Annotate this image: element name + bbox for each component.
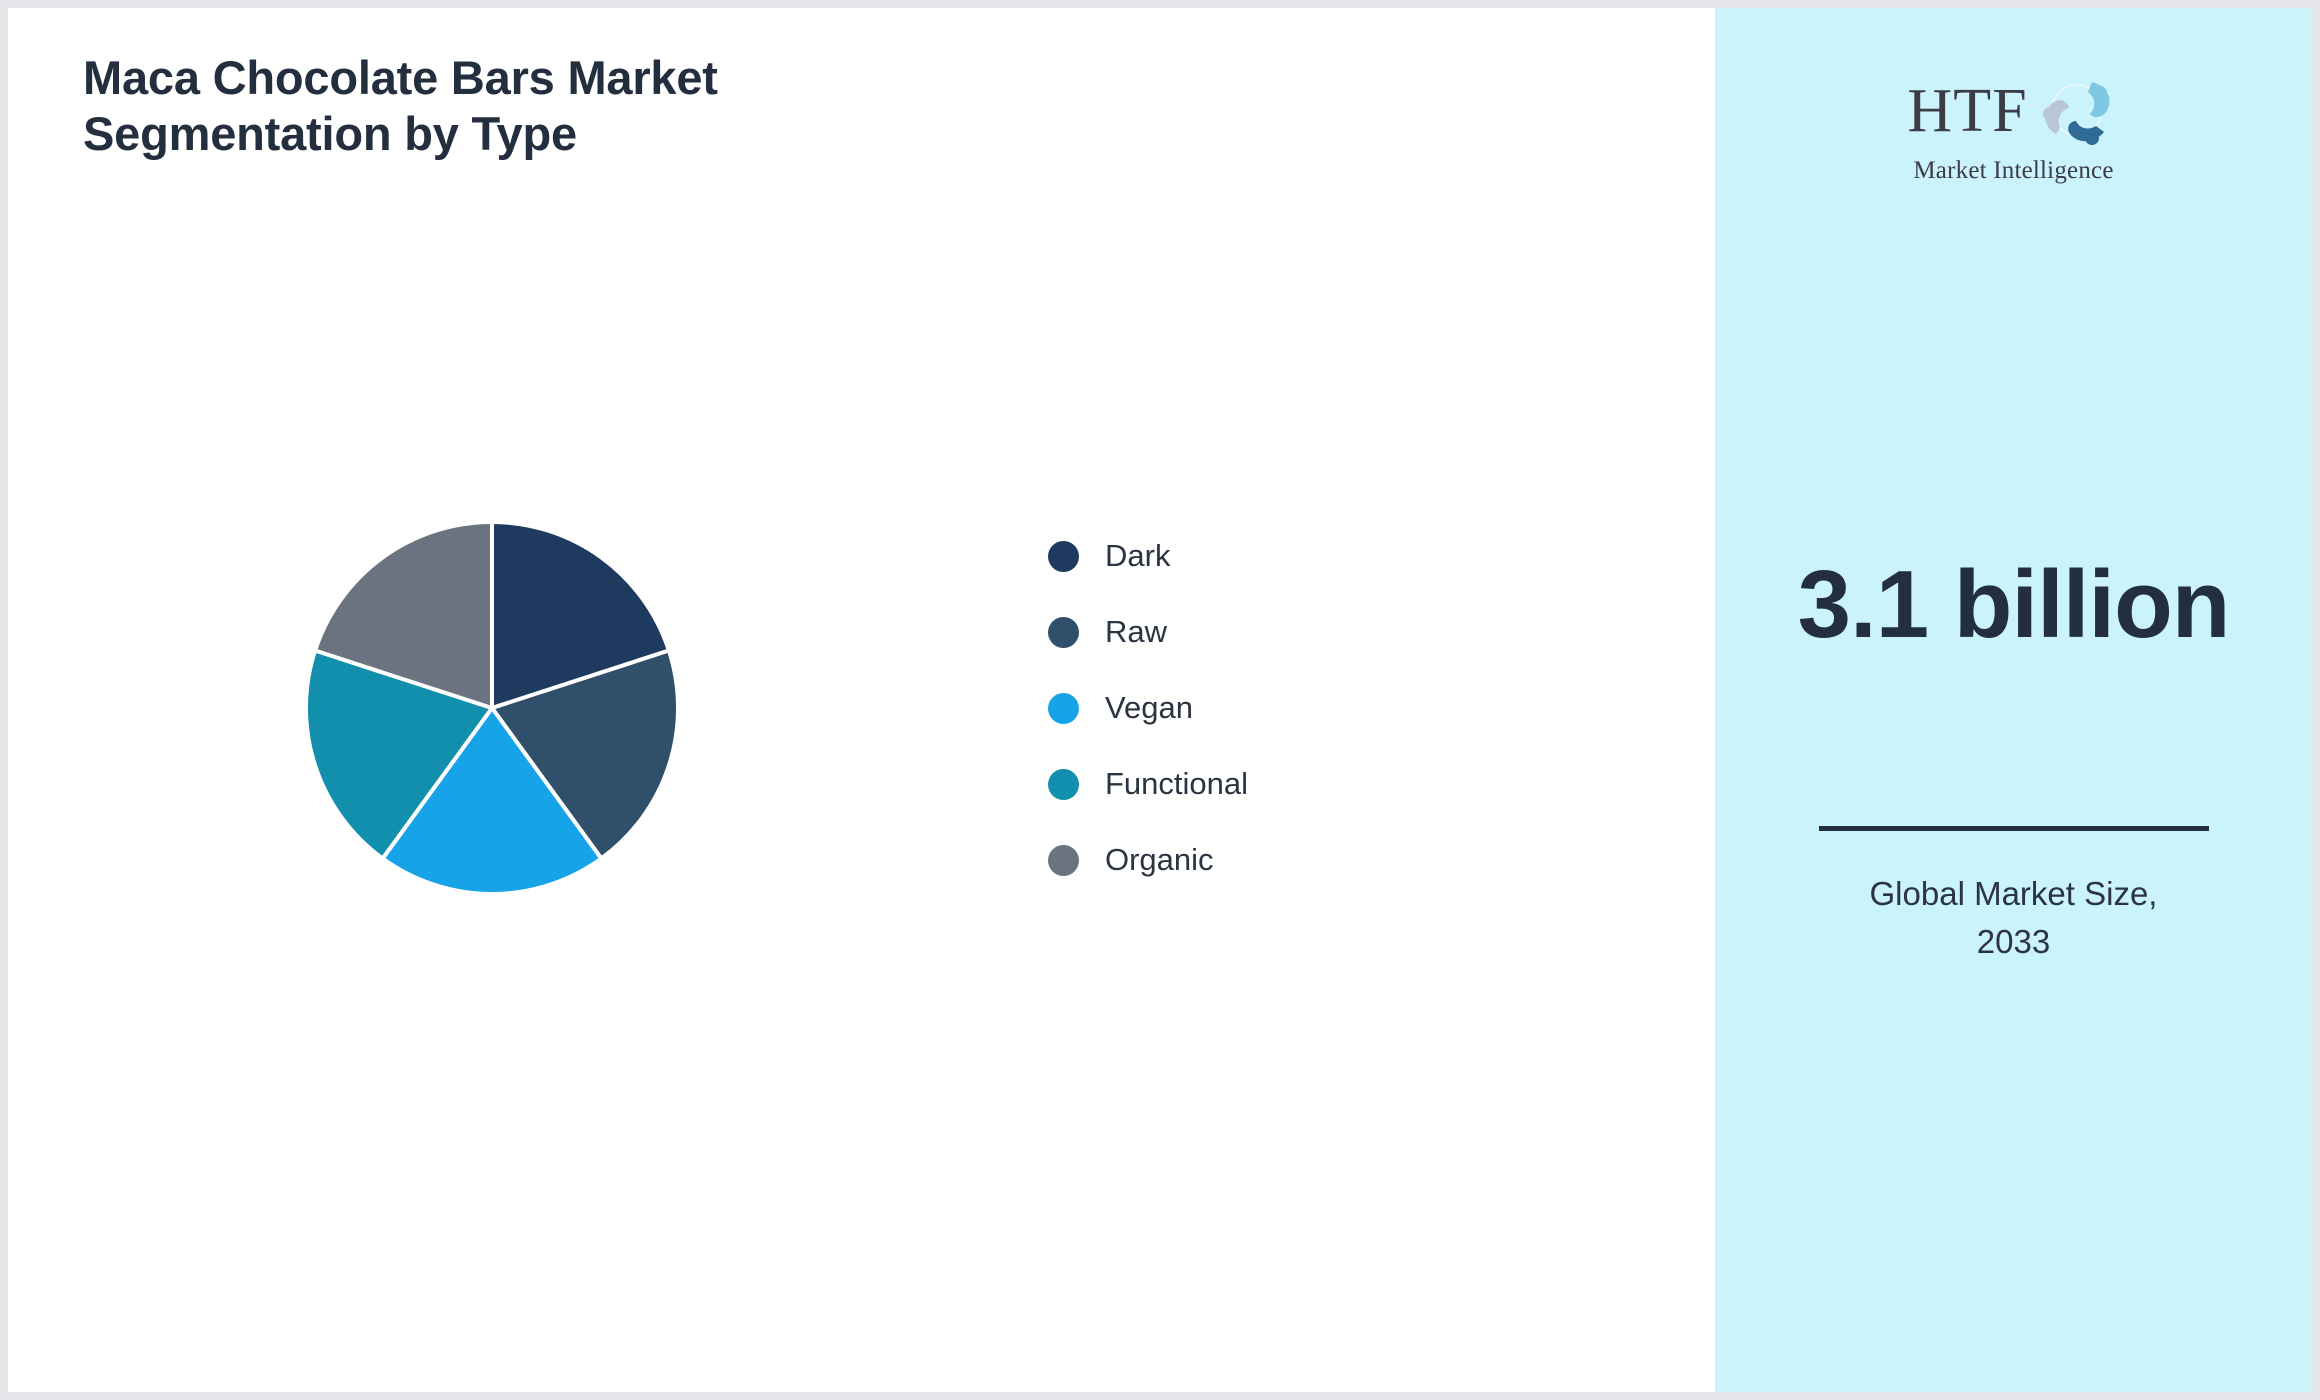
chart-title: Maca Chocolate Bars Market Segmentation … [83, 50, 983, 163]
logo-mark-row: HTF [1907, 70, 2119, 153]
legend-item-organic: Organic [1048, 822, 1248, 898]
pie-chart-svg [302, 518, 682, 898]
legend-item-vegan: Vegan [1048, 670, 1248, 746]
legend-item-label: Dark [1105, 538, 1170, 574]
legend-item-label: Raw [1105, 614, 1167, 650]
legend-swatch-icon [1048, 845, 1079, 876]
infographic-card: Maca Chocolate Bars Market Segmentation … [8, 8, 2312, 1392]
htf-logo: HTF Market Intelligence [1715, 70, 2312, 185]
legend-item-raw: Raw [1048, 594, 1248, 670]
stat-panel: HTF Market Intelligence 3.1 billion G [1715, 8, 2312, 1392]
legend-item-label: Organic [1105, 842, 1214, 878]
legend-swatch-icon [1048, 541, 1079, 572]
stat-divider [1819, 826, 2209, 831]
logo-figures-icon [2034, 72, 2120, 153]
stat-caption: Global Market Size, 2033 [1715, 870, 2312, 966]
stat-value: 3.1 billion [1715, 553, 2312, 657]
legend-item-functional: Functional [1048, 746, 1248, 822]
legend-item-label: Vegan [1105, 690, 1193, 726]
chart-panel: Maca Chocolate Bars Market Segmentation … [8, 8, 1715, 1392]
pie-slice-group [306, 522, 678, 894]
legend-swatch-icon [1048, 769, 1079, 800]
legend-swatch-icon [1048, 617, 1079, 648]
chart-legend: DarkRawVeganFunctionalOrganic [1048, 518, 1248, 898]
legend-swatch-icon [1048, 693, 1079, 724]
logo-wordmark: HTF [1907, 82, 2027, 141]
legend-item-label: Functional [1105, 766, 1248, 802]
logo-tagline: Market Intelligence [1913, 157, 2113, 185]
pie-chart [302, 518, 682, 898]
legend-item-dark: Dark [1048, 518, 1248, 594]
